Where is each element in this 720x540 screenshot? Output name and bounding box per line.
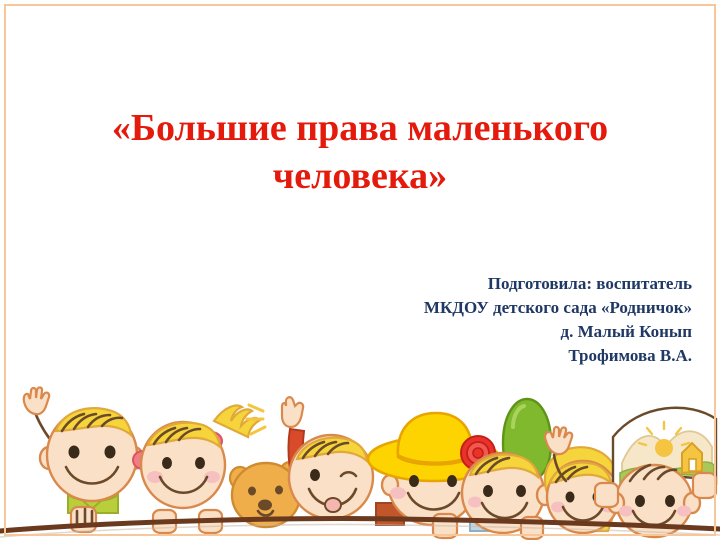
children-illustration: .sk { fill:#FBE0C8; stroke:#D9894C; stro… bbox=[0, 355, 720, 540]
author-credits: Подготовила: воспитатель МКДОУ детского … bbox=[262, 272, 692, 368]
child-boy-green-shirt bbox=[40, 408, 143, 532]
subtitle-line-institution: МКДОУ детского сада «Родничок» bbox=[262, 296, 692, 320]
page-title: «Большие права маленького человека» bbox=[22, 104, 698, 200]
presentation-slide: «Большие права маленького человека» Подг… bbox=[0, 0, 720, 540]
subtitle-line-author-name: Трофимова В.А. bbox=[262, 344, 692, 368]
title-line-2: человека» bbox=[22, 152, 698, 200]
subtitle-line-prepared-by: Подготовила: воспитатель bbox=[262, 272, 692, 296]
child-girl-long-hair bbox=[545, 427, 619, 533]
title-line-1: «Большие права маленького bbox=[22, 104, 698, 152]
subtitle-line-village: д. Малый Конып bbox=[262, 320, 692, 344]
